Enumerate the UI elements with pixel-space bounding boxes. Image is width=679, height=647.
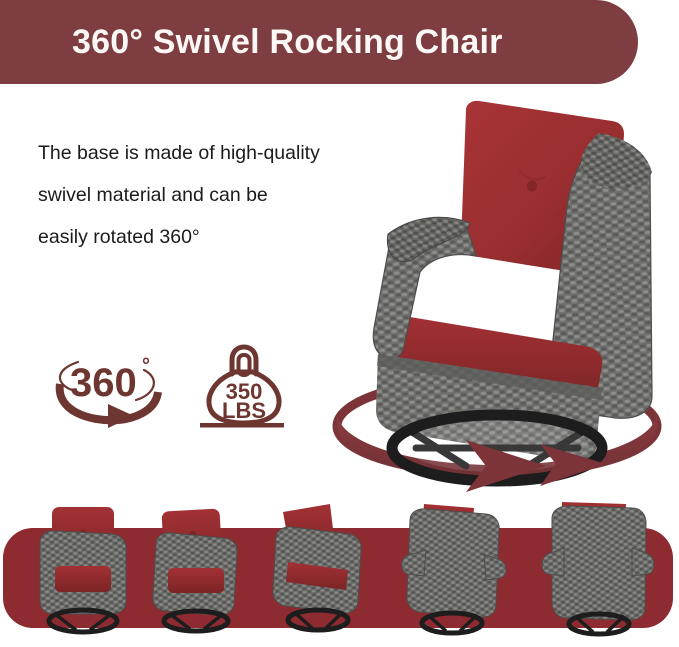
- header-banner: 360° Swivel Rocking Chair: [0, 0, 638, 84]
- chair-view-side: [273, 504, 361, 630]
- chair-view-front: [40, 507, 126, 632]
- weight-unit: LBS: [222, 398, 266, 423]
- weight-capacity-icon: 350 LBS: [200, 344, 284, 437]
- feature-icon-row: 360 ° 350 LBS: [42, 344, 282, 434]
- degree-symbol: °: [142, 355, 150, 377]
- hero-chair-image: [316, 96, 679, 496]
- chair-sequence-illustration: [0, 490, 679, 647]
- rotate-360-label: 360: [70, 361, 137, 405]
- chair-view-front-left: [153, 509, 237, 631]
- rotate-360-icon: 360 °: [48, 348, 166, 433]
- hero-chair-illustration: [316, 96, 679, 496]
- chair-view-rear: [542, 502, 654, 634]
- page-title: 360° Swivel Rocking Chair: [72, 23, 503, 62]
- chair-view-rear-left: [402, 504, 506, 633]
- rotation-sequence-strip: [0, 490, 679, 647]
